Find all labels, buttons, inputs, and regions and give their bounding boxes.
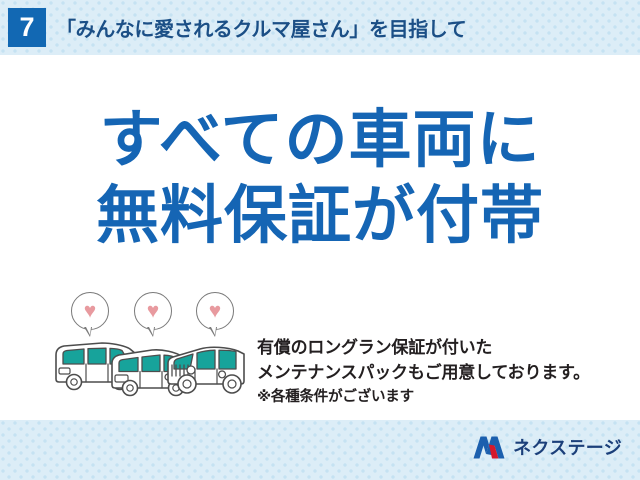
cars-illustration: ♥ ♥ ♥	[50, 287, 250, 399]
info-description: 有償のロングラン保証が付いた メンテナンスパックもご用意しております。 ※各種条…	[257, 335, 637, 409]
footer-bar: ネクステージ	[0, 420, 640, 480]
content-panel: すべての車両に 無料保証が付帯 ♥ ♥ ♥	[0, 55, 640, 420]
brand-name: ネクステージ	[513, 434, 622, 460]
nextage-n-icon	[472, 435, 506, 460]
heart-speech-bubble: ♥	[134, 292, 172, 330]
header-title: 「みんなに愛されるクルマ屋さん」を目指して	[56, 13, 466, 42]
three-cars-graphic	[50, 335, 250, 399]
info-row: ♥ ♥ ♥	[0, 287, 640, 399]
header-bar: 7 「みんなに愛されるクルマ屋さん」を目指して	[0, 0, 640, 55]
heart-speech-bubble: ♥	[196, 292, 234, 330]
heart-icon: ♥	[147, 301, 159, 322]
headline-line-1: すべての車両に	[0, 102, 640, 178]
brand-logo: ネクステージ	[472, 434, 622, 460]
heart-icon: ♥	[84, 301, 96, 322]
info-line-1: 有償のロングラン保証が付いた	[257, 335, 637, 360]
heart-speech-bubble: ♥	[71, 292, 109, 330]
info-line-3-note: ※各種条件がございます	[257, 385, 637, 409]
headline: すべての車両に 無料保証が付帯	[0, 102, 640, 254]
headline-line-2: 無料保証が付帯	[0, 178, 640, 254]
heart-icon: ♥	[209, 301, 221, 322]
promo-poster: 7 「みんなに愛されるクルマ屋さん」を目指して すべての車両に 無料保証が付帯 …	[0, 0, 640, 480]
info-line-2: メンテナンスパックもご用意しております。	[257, 360, 637, 385]
section-number-badge: 7	[8, 8, 46, 47]
